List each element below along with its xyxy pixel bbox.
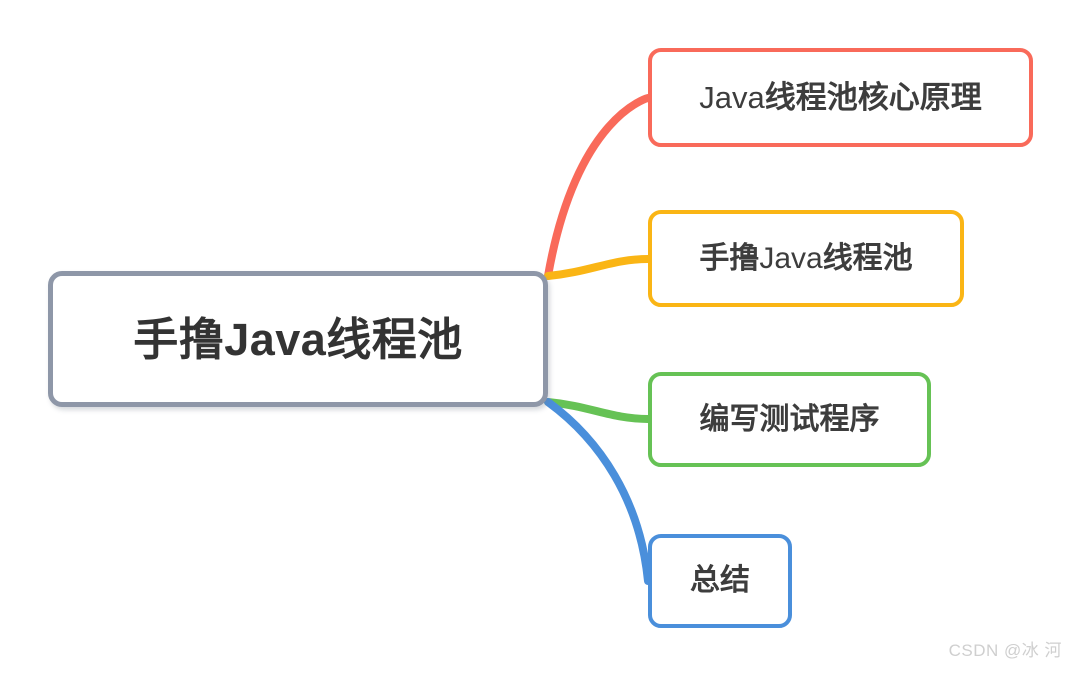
mindmap-canvas: 手撸Java线程池 Java线程池核心原理 手撸Java线程池 编写测试程序 总…: [0, 0, 1080, 675]
branch-node-2-label-latin: Java: [759, 242, 822, 275]
connector-branch-1: [548, 98, 648, 276]
branch-node-1-label-cjk: 线程池核心原理: [765, 80, 982, 115]
mindmap-branch-node-1[interactable]: Java线程池核心原理: [648, 48, 1033, 147]
mindmap-branch-node-3[interactable]: 编写测试程序: [648, 372, 931, 467]
connector-branch-3: [548, 402, 648, 419]
branch-node-3-label: 编写测试程序: [700, 405, 880, 435]
mindmap-branch-node-4[interactable]: 总结: [648, 534, 792, 628]
branch-node-2-label: 手撸Java线程池: [699, 244, 912, 274]
branch-node-1-label-latin: Java: [699, 80, 764, 115]
mindmap-branch-node-2[interactable]: 手撸Java线程池: [648, 210, 964, 307]
branch-node-2-label-cjk-suffix: 线程池: [823, 242, 913, 275]
connector-branch-2: [548, 259, 648, 276]
branch-node-2-label-cjk-prefix: 手撸: [699, 242, 759, 275]
root-node-label: 手撸Java线程池: [133, 317, 463, 362]
branch-node-1-label: Java线程池核心原理: [699, 82, 981, 113]
csdn-watermark: CSDN @冰 河: [949, 636, 1062, 661]
mindmap-root-node[interactable]: 手撸Java线程池: [48, 271, 548, 407]
connector-branch-4: [548, 402, 648, 581]
branch-node-4-label: 总结: [690, 566, 750, 596]
